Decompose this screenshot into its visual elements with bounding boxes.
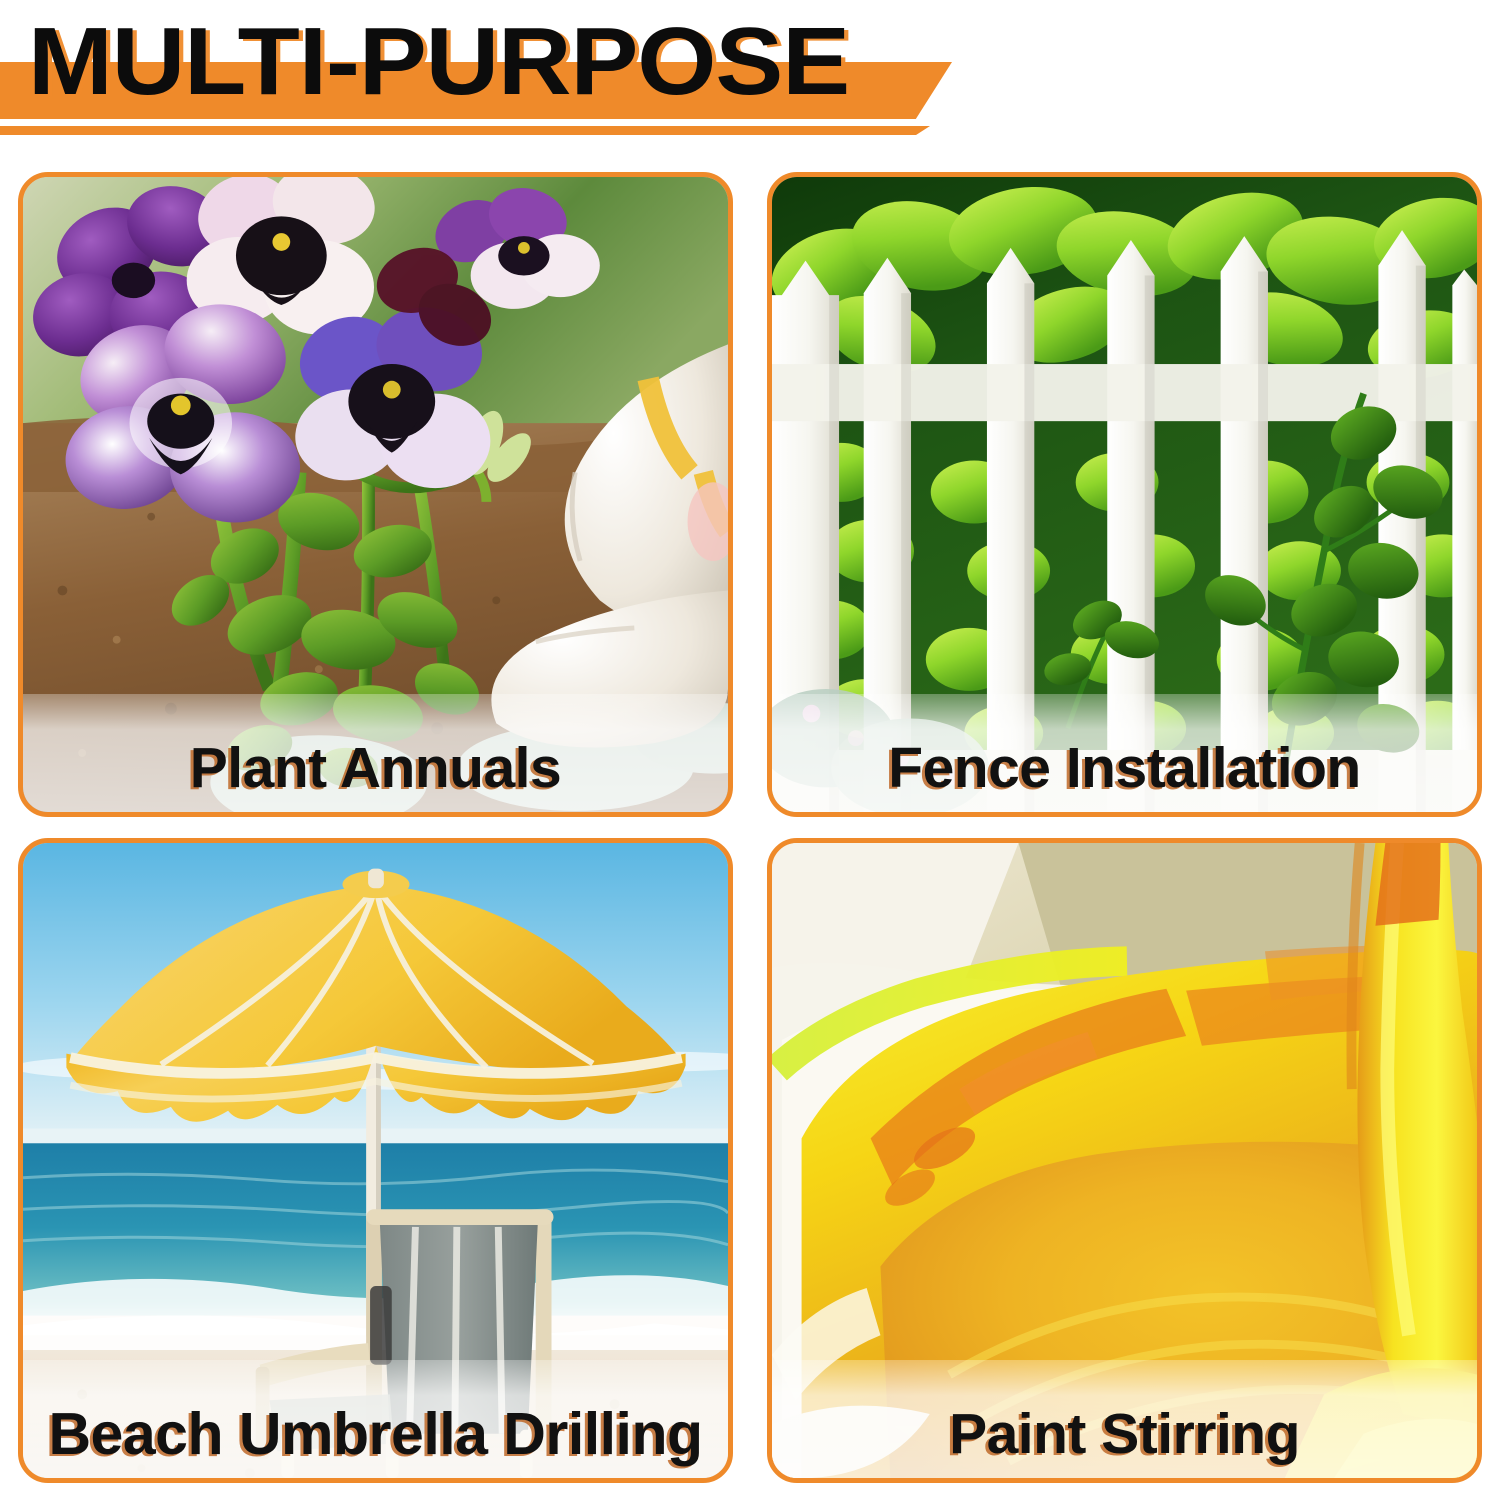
header-underline-shape: [0, 126, 930, 135]
photo-beach-umbrella-drilling: [23, 843, 728, 1478]
page-title: MULTI-PURPOSE: [28, 8, 849, 116]
photo-plant-annuals: [23, 177, 728, 812]
panel-caption-plant-annuals: Plant Annuals: [23, 732, 728, 804]
panel-beach-umbrella-drilling[interactable]: Beach Umbrella Drilling: [18, 838, 733, 1483]
header: MULTI-PURPOSE: [0, 0, 1500, 150]
photo-paint-stirring: [772, 843, 1477, 1478]
panel-paint-stirring[interactable]: Paint Stirring: [767, 838, 1482, 1483]
panel-fence-installation[interactable]: Fence Installation: [767, 172, 1482, 817]
multi-purpose-infographic: MULTI-PURPOSE: [0, 0, 1500, 1500]
panel-plant-annuals[interactable]: Plant Annuals: [18, 172, 733, 817]
photo-fence-installation: [772, 177, 1477, 812]
panel-caption-paint-stirring: Paint Stirring: [772, 1398, 1477, 1470]
panel-caption-fence-installation: Fence Installation: [772, 732, 1477, 804]
panel-caption-beach-umbrella-drilling: Beach Umbrella Drilling: [23, 1398, 728, 1470]
panel-grid: Plant Annuals: [18, 172, 1482, 1483]
